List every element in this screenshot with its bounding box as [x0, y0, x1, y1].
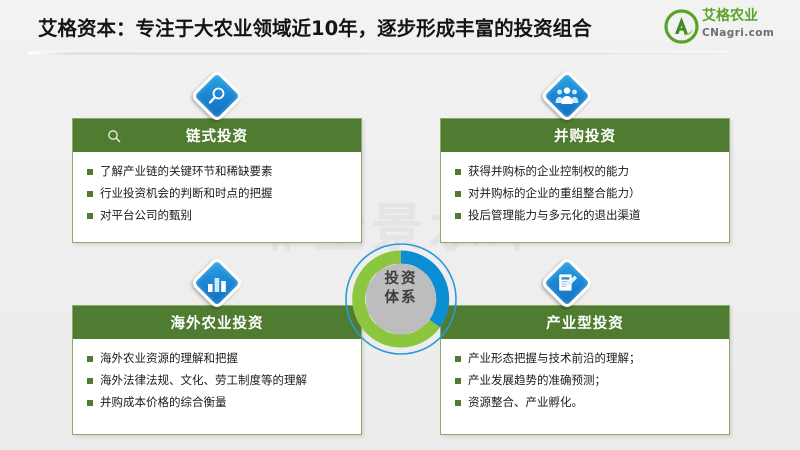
bullet-square-icon [87, 191, 93, 197]
card-ma-title: 并购投资 [554, 125, 616, 146]
bullet-square-icon [87, 400, 93, 406]
list-item: 海外农业资源的理解和把握 [87, 351, 351, 366]
list-item-label: 对平台公司的甄别 [100, 208, 192, 223]
people-group-icon [545, 74, 589, 118]
bullet-square-icon [87, 213, 93, 219]
list-item: 并购成本价格的综合衡量 [87, 395, 351, 410]
hub-graphic [338, 236, 464, 362]
magnifier-icon [107, 128, 121, 142]
list-item-label: 对并购标的企业的重组整合能力） [468, 186, 641, 201]
list-item: 投后管理能力与多元化的退出渠道 [455, 208, 719, 223]
page-title: 艾格资本：专注于大农业领域近10年，逐步形成丰富的投资组合 [38, 12, 592, 41]
bullet-square-icon [87, 169, 93, 175]
list-item: 获得并购标的企业控制权的能力 [455, 164, 719, 179]
card-ma-badge[interactable] [545, 74, 589, 118]
slide-canvas: 非全景水印 艾格资本：专注于大农业领域近10年，逐步形成丰富的投资组合 艾格农业… [0, 0, 800, 450]
list-item-label: 并购成本价格的综合衡量 [100, 395, 227, 410]
list-item: 产业形态把握与技术前沿的理解； [455, 351, 719, 366]
card-industry-body: 产业形态把握与技术前沿的理解； 产业发展趋势的准确预测； 资源整合、产业孵化。 [441, 339, 729, 427]
card-ma[interactable]: 并购投资 获得并购标的企业控制权的能力 对并购标的企业的重组整合能力） 投后管理… [440, 118, 730, 243]
list-item-label: 投后管理能力与多元化的退出渠道 [468, 208, 641, 223]
list-item-label: 行业投资机会的判断和时点的把握 [100, 186, 273, 201]
brand-logo: 艾格农业 CNagri.com [664, 6, 792, 48]
card-chain-badge[interactable] [195, 74, 239, 118]
card-overseas-body: 海外农业资源的理解和把握 海外法律法规、文化、劳工制度等的理解 并购成本价格的综… [73, 339, 361, 427]
list-item-label: 海外法律法规、文化、劳工制度等的理解 [100, 373, 307, 388]
bullet-square-icon [87, 356, 93, 362]
slide-header: 艾格资本：专注于大农业领域近10年，逐步形成丰富的投资组合 艾格农业 CNagr… [0, 0, 800, 58]
card-chain-body: 了解产业链的关键环节和稀缺要素 行业投资机会的判断和时点的把握 对平台公司的甄别 [73, 152, 361, 240]
bullet-square-icon [455, 400, 461, 406]
list-item-label: 产业形态把握与技术前沿的理解； [468, 351, 641, 366]
cnagri-leaf-circle-icon [664, 9, 699, 44]
list-item: 资源整合、产业孵化。 [455, 395, 719, 410]
bullet-square-icon [87, 378, 93, 384]
card-chain-header: 链式投资 [73, 119, 361, 152]
bullet-square-icon [455, 191, 461, 197]
card-ma-body: 获得并购标的企业控制权的能力 对并购标的企业的重组整合能力） 投后管理能力与多元… [441, 152, 729, 240]
list-item: 对并购标的企业的重组整合能力） [455, 186, 719, 201]
card-industry[interactable]: 产业型投资 产业形态把握与技术前沿的理解； 产业发展趋势的准确预测； 资源整合、… [440, 305, 730, 435]
list-item-label: 获得并购标的企业控制权的能力 [468, 164, 629, 179]
list-item-label: 海外农业资源的理解和把握 [100, 351, 238, 366]
logo-brand-cn: 艾格农业 [702, 8, 792, 24]
card-industry-title: 产业型投资 [546, 312, 624, 333]
bullet-square-icon [455, 169, 461, 175]
list-item: 对平台公司的甄别 [87, 208, 351, 223]
title-divider [28, 51, 728, 55]
card-chain[interactable]: 链式投资 了解产业链的关键环节和稀缺要素 行业投资机会的判断和时点的把握 对平台… [72, 118, 362, 243]
center-hub: 投资 体系 [338, 236, 464, 362]
list-item: 产业发展趋势的准确预测； [455, 373, 719, 388]
magnifier-icon [195, 74, 239, 118]
logo-domain: CNagri.com [702, 27, 792, 40]
logo-text-block: 艾格农业 CNagri.com [702, 8, 792, 40]
card-overseas[interactable]: 海外农业投资 海外农业资源的理解和把握 海外法律法规、文化、劳工制度等的理解 并… [72, 305, 362, 435]
bullet-square-icon [455, 213, 461, 219]
card-industry-badge[interactable] [545, 261, 589, 305]
card-industry-header: 产业型投资 [441, 306, 729, 339]
card-chain-title: 链式投资 [186, 125, 248, 146]
bullet-square-icon [455, 378, 461, 384]
card-overseas-badge[interactable] [195, 261, 239, 305]
list-item: 了解产业链的关键环节和稀缺要素 [87, 164, 351, 179]
list-item: 海外法律法规、文化、劳工制度等的理解 [87, 373, 351, 388]
list-item-label: 了解产业链的关键环节和稀缺要素 [100, 164, 273, 179]
bar-chart-icon [195, 261, 239, 305]
card-overseas-header: 海外农业投资 [73, 306, 361, 339]
list-item-label: 资源整合、产业孵化。 [468, 395, 583, 410]
card-overseas-title: 海外农业投资 [171, 312, 264, 333]
document-edit-icon [545, 261, 589, 305]
card-ma-header: 并购投资 [441, 119, 729, 152]
list-item-label: 产业发展趋势的准确预测； [468, 373, 606, 388]
list-item: 行业投资机会的判断和时点的把握 [87, 186, 351, 201]
